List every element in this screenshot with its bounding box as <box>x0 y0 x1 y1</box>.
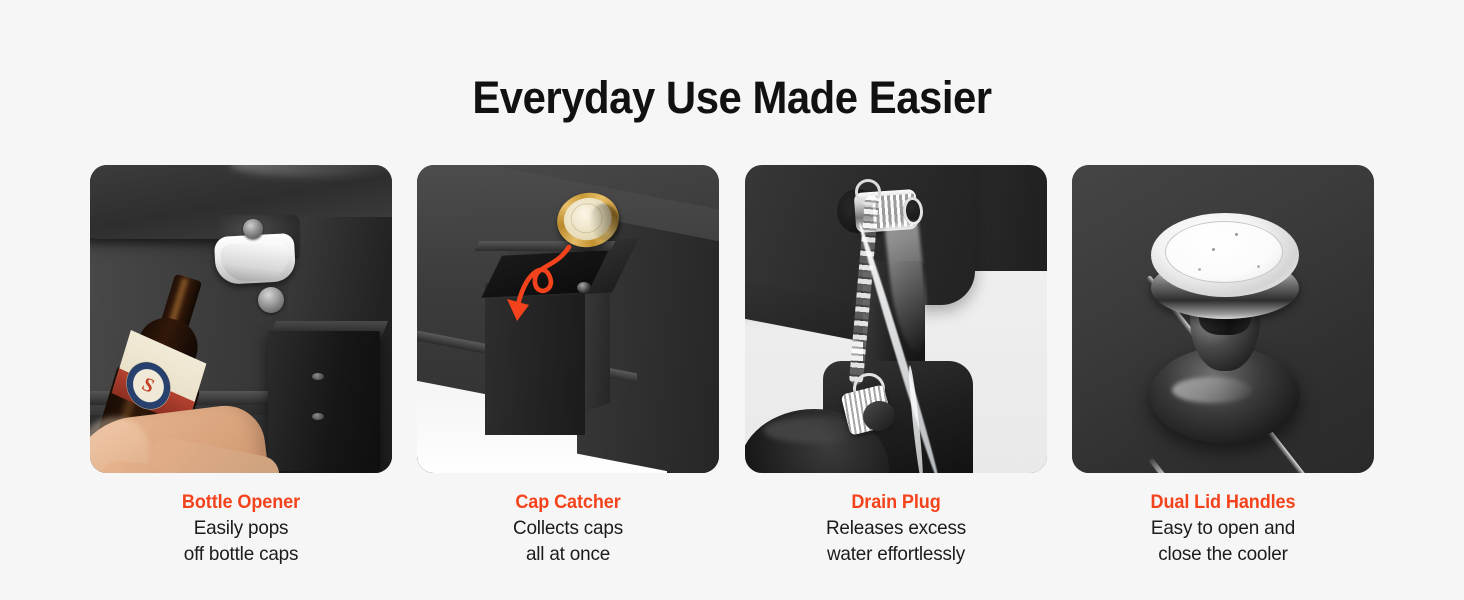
feature-desc-line1: Easily pops <box>95 515 388 541</box>
feature-list: S RICHTLI Bottle Opener Easily pops off … <box>90 165 1374 567</box>
knob-dot-c-icon <box>1198 268 1201 271</box>
feature-caption-bottle-opener: Bottle Opener Easily pops off bottle cap… <box>90 490 392 567</box>
feature-title: Cap Catcher <box>425 490 712 515</box>
feature-image-drain-plug <box>745 165 1047 473</box>
feature-desc-line2: water effortlessly <box>749 541 1042 567</box>
catcher-screw-lower-icon <box>312 413 324 420</box>
knob-dot-a-icon <box>1235 233 1238 236</box>
feature-item-dual-lid-handles: Dual Lid Handles Easy to open and close … <box>1072 165 1374 567</box>
feature-image-cap-catcher <box>417 165 719 473</box>
feature-item-cap-catcher: Cap Catcher Collects caps all at once <box>417 165 719 567</box>
knob-dot-d-icon <box>1257 265 1260 268</box>
lid-highlight <box>230 165 392 177</box>
handle-base-highlight <box>1172 377 1252 403</box>
feature-desc-line2: off bottle caps <box>95 541 388 567</box>
feature-title: Drain Plug <box>752 490 1039 515</box>
opener-screw-bottom-icon <box>258 287 284 313</box>
handle-knob-inner-ring <box>1165 221 1283 283</box>
feature-desc-line1: Releases excess <box>749 515 1042 541</box>
feature-caption-drain-plug: Drain Plug Releases excess water effortl… <box>745 490 1047 567</box>
feature-image-bottle-opener: S RICHTLI <box>90 165 392 473</box>
feature-caption-cap-catcher: Cap Catcher Collects caps all at once <box>417 490 719 567</box>
feature-title: Dual Lid Handles <box>1080 490 1367 515</box>
feature-desc-line1: Collects caps <box>422 515 715 541</box>
opener-screw-top-icon <box>243 219 263 239</box>
feature-banner: Everyday Use Made Easier <box>0 0 1464 600</box>
feature-item-bottle-opener: S RICHTLI Bottle Opener Easily pops off … <box>90 165 392 567</box>
catcher-screw-upper-icon <box>312 373 324 380</box>
feature-image-dual-lid-handles <box>1072 165 1374 473</box>
feature-item-drain-plug: Drain Plug Releases excess water effortl… <box>745 165 1047 567</box>
feature-desc-line1: Easy to open and <box>1077 515 1370 541</box>
feature-caption-dual-lid-handles: Dual Lid Handles Easy to open and close … <box>1072 490 1374 567</box>
drop-arrow-icon <box>477 235 597 355</box>
cap-catcher-box <box>268 331 380 471</box>
knob-dot-b-icon <box>1212 248 1215 251</box>
feature-desc-line2: close the cooler <box>1077 541 1370 567</box>
feature-title: Bottle Opener <box>98 490 385 515</box>
feature-desc-line2: all at once <box>422 541 715 567</box>
page-title: Everyday Use Made Easier <box>51 70 1413 126</box>
